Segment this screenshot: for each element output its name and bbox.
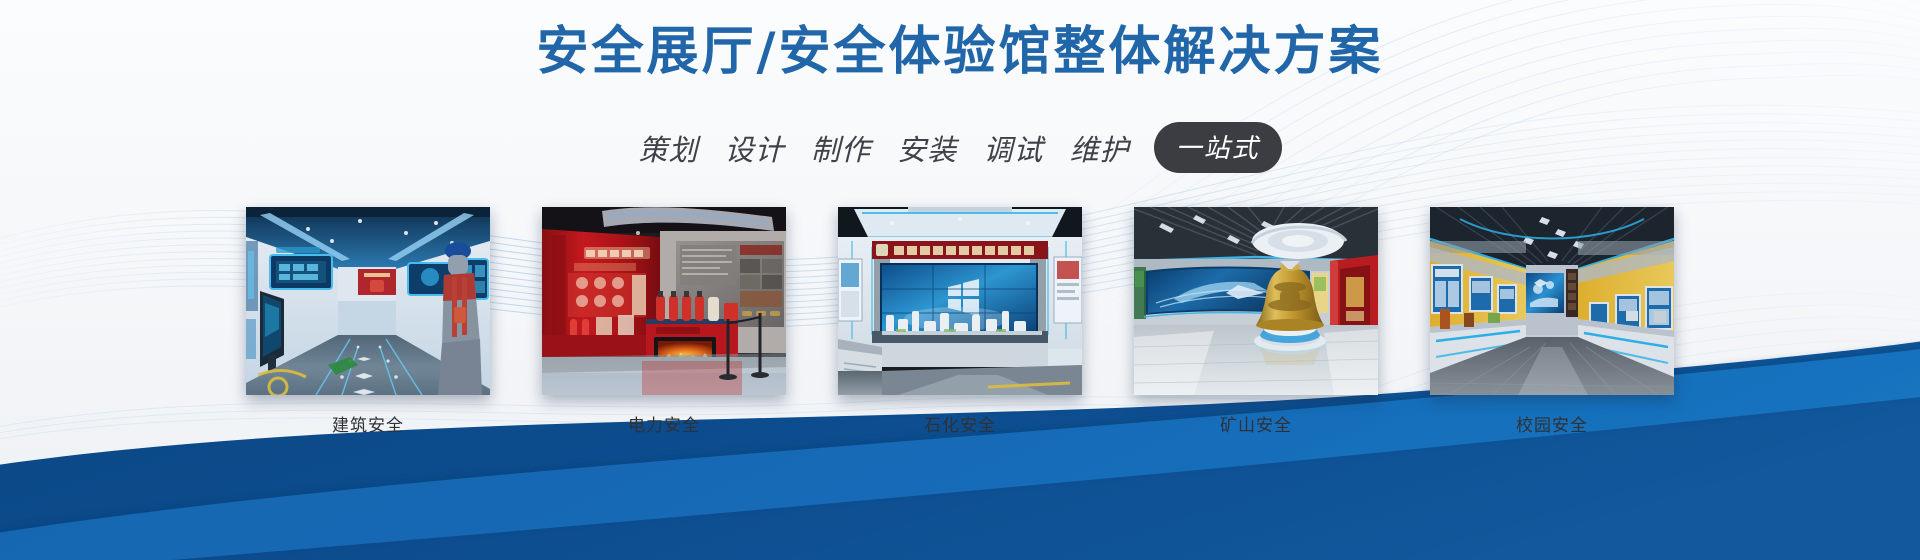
thumbnail-image-power-safety[interactable] [542, 207, 786, 395]
gallery-item-campus-safety[interactable]: 校园安全 [1430, 207, 1674, 436]
service-step-debug: 调试 [983, 135, 1043, 167]
thumbnail-image-petrochemical-safety[interactable] [838, 207, 1082, 395]
page-title: 安全展厅/安全体验馆整体解决方案 [0, 22, 1920, 83]
one-stop-badge: 一站式 [1154, 122, 1282, 173]
gallery-item-petrochemical-safety[interactable]: 石化安全 [838, 207, 1082, 436]
headline-block: 安全展厅/安全体验馆整体解决方案 [0, 22, 1920, 83]
gallery-caption-mining-safety: 矿山安全 [1220, 411, 1292, 436]
service-step-maintain: 维护 [1070, 135, 1130, 167]
subtitle-block: 策划 设计 制作 安装 调试 维护 一站式 [0, 122, 1920, 173]
gallery-item-mining-safety[interactable]: 矿山安全 [1134, 207, 1378, 436]
safety-exhibition-banner: 安全展厅/安全体验馆整体解决方案 策划 设计 制作 安装 调试 维护 一站式 [0, 0, 1920, 560]
service-step-planning: 策划 [638, 135, 698, 167]
service-step-production: 制作 [811, 135, 871, 167]
gallery: 建筑安全 [0, 207, 1920, 436]
thumbnail-image-mining-safety[interactable] [1134, 207, 1378, 395]
gallery-item-construction-safety[interactable]: 建筑安全 [246, 207, 490, 436]
service-step-install: 安装 [897, 135, 957, 167]
gallery-caption-campus-safety: 校园安全 [1516, 411, 1588, 436]
thumbnail-image-campus-safety[interactable] [1430, 207, 1674, 395]
gallery-item-power-safety[interactable]: 电力安全 [542, 207, 786, 436]
thumbnail-image-construction-safety[interactable] [246, 207, 490, 395]
gallery-caption-power-safety: 电力安全 [628, 411, 700, 436]
service-step-design: 设计 [725, 135, 785, 167]
gallery-caption-petrochemical-safety: 石化安全 [924, 411, 996, 436]
service-steps: 策划 设计 制作 安装 调试 维护 [638, 127, 1147, 169]
gallery-caption-construction-safety: 建筑安全 [332, 411, 404, 436]
